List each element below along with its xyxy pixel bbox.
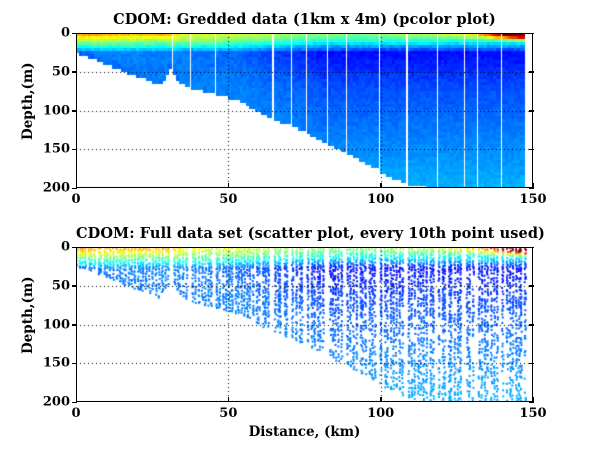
y-tick-mark — [72, 71, 77, 73]
y-tick-label: 100 — [38, 317, 70, 332]
y-tick-label: 200 — [38, 395, 70, 410]
x-tick-label: 150 — [519, 192, 546, 207]
y-tick-mark — [72, 247, 77, 249]
y-tick-label: 200 — [38, 181, 70, 196]
x-tick-label: 50 — [219, 192, 237, 207]
y-tick-mark — [72, 188, 77, 190]
y-tick-label: 0 — [38, 26, 70, 41]
x-tick-label: 100 — [367, 192, 394, 207]
y-tick-mark — [72, 285, 77, 287]
scatter-x-axis-label: Distance, (km) — [76, 424, 533, 440]
x-tick-mark — [228, 397, 230, 402]
x-tick-mark — [228, 183, 230, 188]
y-tick-label: 150 — [38, 142, 70, 157]
y-tick-mark-right — [529, 188, 534, 190]
figure-canvas: CDOM: Gredded data (1km x 4m) (pcolor pl… — [0, 0, 600, 451]
y-tick-mark — [72, 363, 77, 365]
panel-gridded-pcolor — [76, 33, 533, 188]
y-tick-mark — [72, 402, 77, 404]
scatter-y-axis-label: Depth,(m) — [20, 294, 36, 354]
y-tick-label: 100 — [38, 103, 70, 118]
scatter-panel-title: CDOM: Full data set (scatter plot, every… — [76, 225, 533, 242]
x-tick-label: 150 — [519, 406, 546, 421]
x-tick-mark — [380, 397, 382, 402]
y-tick-label: 150 — [38, 356, 70, 371]
y-tick-label: 50 — [38, 278, 70, 293]
y-tick-mark-right — [529, 110, 534, 112]
y-tick-mark-right — [529, 363, 534, 365]
y-tick-mark-right — [529, 71, 534, 73]
y-tick-mark-right — [529, 402, 534, 404]
y-tick-mark — [72, 324, 77, 326]
y-tick-mark — [72, 33, 77, 35]
y-tick-label: 0 — [38, 240, 70, 255]
x-tick-mark — [380, 183, 382, 188]
scatter-plot-canvas — [76, 247, 533, 402]
x-tick-label: 50 — [219, 406, 237, 421]
y-tick-mark-right — [529, 33, 534, 35]
y-tick-mark — [72, 149, 77, 151]
gridded-y-axis-label: Depth,(m) — [20, 80, 36, 140]
x-tick-label: 0 — [71, 192, 80, 207]
panel-scatter-plot — [76, 247, 533, 402]
y-tick-mark-right — [529, 149, 534, 151]
gridded-heatmap-canvas — [76, 33, 533, 188]
y-tick-mark-right — [529, 285, 534, 287]
y-tick-label: 50 — [38, 64, 70, 79]
y-tick-mark-right — [529, 247, 534, 249]
x-tick-label: 100 — [367, 406, 394, 421]
x-tick-label: 0 — [71, 406, 80, 421]
gridded-panel-title: CDOM: Gredded data (1km x 4m) (pcolor pl… — [76, 11, 533, 28]
y-tick-mark — [72, 110, 77, 112]
y-tick-mark-right — [529, 324, 534, 326]
